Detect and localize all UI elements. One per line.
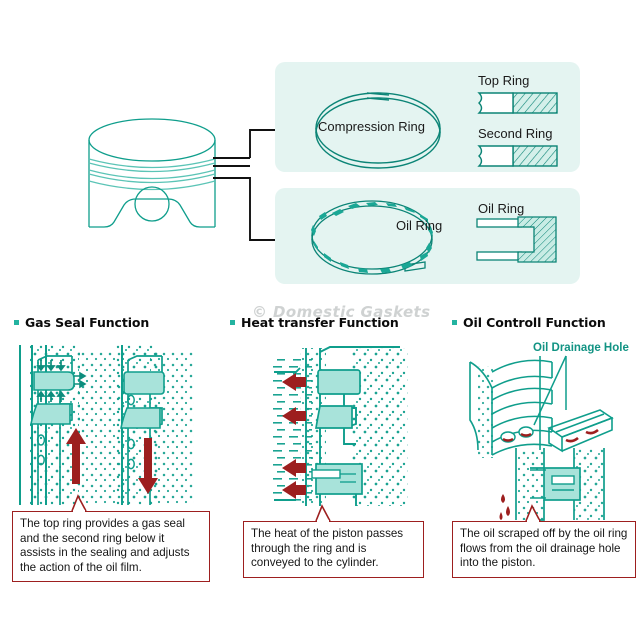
- oil-control-callout-notch: [0, 0, 640, 640]
